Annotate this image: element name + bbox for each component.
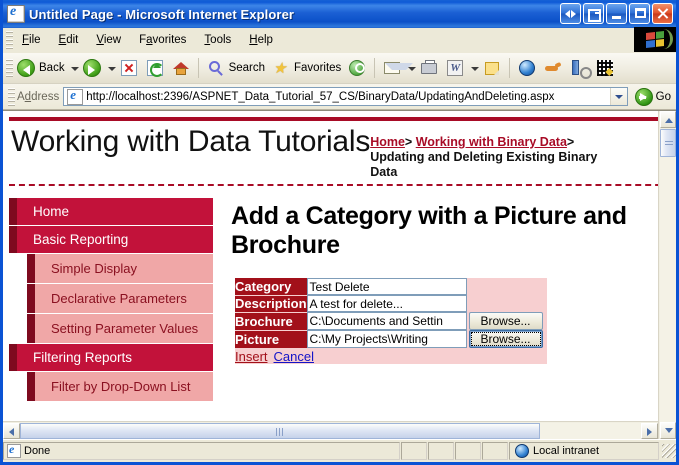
search-button[interactable]: Search	[203, 56, 268, 80]
favorites-label: Favorites	[294, 62, 341, 74]
address-label: Address	[17, 91, 59, 103]
sidebar-item-filter-by-drop-down-list[interactable]: Filter by Drop-Down List	[35, 372, 213, 402]
label-brochure: Brochure	[235, 312, 307, 330]
page-icon	[67, 89, 83, 105]
row-spacer	[467, 295, 547, 312]
browser-viewport: Working with Data Tutorials Home> Workin…	[3, 110, 676, 439]
globe-zone-icon	[515, 444, 529, 458]
security-zone-pane[interactable]: Local intranet	[509, 442, 659, 460]
address-bar: Address http://localhost:2396/ASPNET_Dat…	[3, 84, 676, 110]
forward-dropdown-icon[interactable]	[105, 58, 116, 78]
refresh-icon	[145, 58, 165, 78]
sidebar: Home Basic Reporting Simple Display Decl…	[3, 186, 213, 402]
status-text: Done	[24, 445, 50, 457]
page-title: Working with Data Tutorials	[3, 121, 370, 163]
picture-file-input[interactable]: C:\My Projects\Writing Browse...	[307, 330, 547, 348]
picture-path-text[interactable]: C:\My Projects\Writing	[307, 330, 467, 348]
page-done-icon	[7, 444, 21, 458]
sidebar-item-filtering-reports[interactable]: Filtering Reports	[17, 344, 213, 372]
form-actions: InsertCancel	[235, 348, 547, 364]
toolbar-separator	[198, 58, 199, 78]
resize-grip[interactable]	[662, 444, 676, 458]
go-button[interactable]: Go	[632, 86, 674, 107]
messenger-button[interactable]	[592, 56, 618, 80]
globe-button[interactable]	[514, 56, 540, 80]
address-grip[interactable]	[8, 88, 15, 106]
notes-icon	[482, 58, 502, 78]
back-icon	[16, 58, 36, 78]
sidebar-item-simple-display[interactable]: Simple Display	[35, 254, 213, 284]
table-row: Brochure C:\Documents and Settin Browse.…	[235, 312, 547, 330]
sidebar-item-setting-parameter-values[interactable]: Setting Parameter Values	[35, 314, 213, 344]
stop-icon	[119, 58, 139, 78]
cancel-link[interactable]: Cancel	[274, 349, 314, 364]
status-pane-4	[482, 442, 508, 460]
scroll-right-button[interactable]	[641, 423, 658, 439]
insert-form-table: Category Test Delete Description A test …	[235, 278, 547, 364]
menu-tools[interactable]: Tools	[196, 31, 239, 49]
breadcrumb: Home> Working with Binary Data> Updating…	[370, 121, 612, 180]
vertical-scroll-track[interactable]	[660, 157, 676, 422]
favorites-button[interactable]: ★ Favorites	[268, 56, 344, 80]
go-arrow-icon	[635, 88, 653, 106]
label-picture: Picture	[235, 330, 307, 348]
mail-icon	[382, 58, 402, 78]
ie-logo	[634, 27, 676, 52]
menu-favorites[interactable]: Favorites	[131, 31, 194, 49]
restore-group-button[interactable]	[583, 3, 604, 24]
forward-button[interactable]	[79, 56, 105, 80]
go-label: Go	[656, 91, 671, 103]
field-category-cell: Test Delete	[307, 278, 467, 295]
page-header: Working with Data Tutorials Home> Workin…	[3, 121, 658, 180]
history-icon	[347, 58, 367, 78]
horizontal-scroll-thumb[interactable]	[20, 423, 540, 439]
label-category: Category	[235, 278, 307, 295]
edit-dropdown-icon[interactable]	[468, 58, 479, 78]
sidebar-item-basic-reporting[interactable]: Basic Reporting	[17, 226, 213, 254]
status-pane-2	[428, 442, 454, 460]
toolbar-grip[interactable]	[6, 59, 13, 77]
favorites-star-icon: ★	[271, 58, 291, 78]
status-pane-3	[455, 442, 481, 460]
minimize-button[interactable]	[606, 3, 627, 24]
breadcrumb-section-link[interactable]: Working with Binary Data	[416, 135, 567, 149]
description-input[interactable]: A test for delete...	[307, 295, 467, 312]
brochure-path-text[interactable]: C:\Documents and Settin	[307, 312, 467, 330]
stop-button[interactable]	[116, 56, 142, 80]
main-content: Add a Category with a Picture and Brochu…	[213, 186, 658, 364]
status-bar: Done Local intranet	[3, 439, 676, 462]
vertical-scrollbar[interactable]	[658, 111, 676, 439]
vertical-scroll-thumb[interactable]	[660, 129, 676, 157]
breadcrumb-separator-2: >	[567, 135, 574, 149]
table-row: Description A test for delete...	[235, 295, 547, 312]
back-dropdown-icon[interactable]	[68, 58, 79, 78]
horizontal-scrollbar[interactable]	[3, 421, 658, 439]
globe-icon	[517, 58, 537, 78]
page-body: Home Basic Reporting Simple Display Decl…	[3, 186, 658, 402]
breadcrumb-separator-1: >	[405, 135, 412, 149]
home-button[interactable]	[168, 56, 194, 80]
print-button[interactable]	[416, 56, 442, 80]
forward-icon	[82, 58, 102, 78]
mail-dropdown-icon[interactable]	[405, 58, 416, 78]
horizontal-scroll-track[interactable]	[540, 423, 641, 439]
brochure-file-input[interactable]: C:\Documents and Settin Browse...	[307, 312, 547, 330]
toolbar-separator-2	[374, 58, 375, 78]
print-icon	[419, 58, 439, 78]
ie-page-icon	[7, 5, 25, 23]
mail-button[interactable]	[379, 56, 405, 80]
back-button[interactable]: Back	[13, 56, 68, 80]
research-icon	[569, 58, 589, 78]
fox-icon	[543, 58, 563, 78]
window-title: Untitled Page - Microsoft Internet Explo…	[29, 7, 294, 22]
label-description: Description	[235, 295, 307, 312]
field-brochure-cell: C:\Documents and Settin Browse...	[307, 312, 547, 330]
insert-link[interactable]: Insert	[235, 349, 268, 364]
content-heading: Add a Category with a Picture and Brochu…	[231, 202, 658, 260]
picture-browse-button[interactable]: Browse...	[469, 330, 543, 348]
category-input[interactable]: Test Delete	[307, 278, 467, 295]
menu-bar: File Edit View Favorites Tools Help	[3, 28, 676, 53]
edit-word-icon: W	[445, 58, 465, 78]
window-controls	[560, 3, 673, 24]
back-label: Back	[39, 62, 65, 74]
toolbar-separator-3	[509, 58, 510, 78]
refresh-button[interactable]	[142, 56, 168, 80]
field-picture-cell: C:\My Projects\Writing Browse...	[307, 330, 547, 348]
menu-help[interactable]: Help	[241, 31, 281, 49]
table-row: Category Test Delete	[235, 278, 547, 295]
menu-grip[interactable]	[6, 31, 13, 49]
menu-edit[interactable]: Edit	[51, 31, 87, 49]
search-icon	[206, 58, 226, 78]
table-row: Picture C:\My Projects\Writing Browse...	[235, 330, 547, 348]
search-label: Search	[229, 62, 265, 74]
notes-button[interactable]	[479, 56, 505, 80]
web-page: Working with Data Tutorials Home> Workin…	[3, 111, 658, 439]
address-input[interactable]: http://localhost:2396/ASPNET_Data_Tutori…	[63, 87, 627, 106]
status-text-pane: Done	[3, 442, 400, 460]
title-bar: Untitled Page - Microsoft Internet Explo…	[3, 0, 676, 28]
toolbar: Back Search ★ Favorites	[3, 53, 676, 84]
fox-button[interactable]	[540, 56, 566, 80]
menu-view[interactable]: View	[88, 31, 129, 49]
address-url-text: http://localhost:2396/ASPNET_Data_Tutori…	[86, 91, 609, 103]
scroll-up-button[interactable]	[660, 111, 676, 128]
chevron-down-icon[interactable]	[610, 88, 627, 105]
security-zone-text: Local intranet	[533, 445, 599, 457]
row-spacer	[467, 278, 547, 295]
brochure-browse-button[interactable]: Browse...	[469, 312, 543, 330]
internet-explorer-window: Untitled Page - Microsoft Internet Explo…	[0, 0, 679, 465]
history-button[interactable]	[344, 56, 370, 80]
menu-file[interactable]: File	[14, 31, 49, 49]
breadcrumb-home-link[interactable]: Home	[370, 135, 405, 149]
home-icon	[171, 58, 191, 78]
edit-button[interactable]: W	[442, 56, 468, 80]
ie-swoosh-icon	[654, 29, 673, 49]
sidebar-item-declarative-parameters[interactable]: Declarative Parameters	[35, 284, 213, 314]
restore-window-button[interactable]	[560, 3, 581, 24]
status-pane-1	[401, 442, 427, 460]
maximize-button[interactable]	[629, 3, 650, 24]
breadcrumb-current: Updating and Deleting Existing Binary Da…	[370, 150, 597, 179]
field-description-cell: A test for delete...	[307, 295, 467, 312]
scroll-left-button[interactable]	[3, 423, 20, 439]
close-button[interactable]	[652, 3, 673, 24]
table-row: InsertCancel	[235, 348, 547, 364]
messenger-icon	[595, 58, 615, 78]
research-button[interactable]	[566, 56, 592, 80]
scroll-down-button[interactable]	[660, 422, 676, 439]
sidebar-item-home[interactable]: Home	[17, 198, 213, 226]
